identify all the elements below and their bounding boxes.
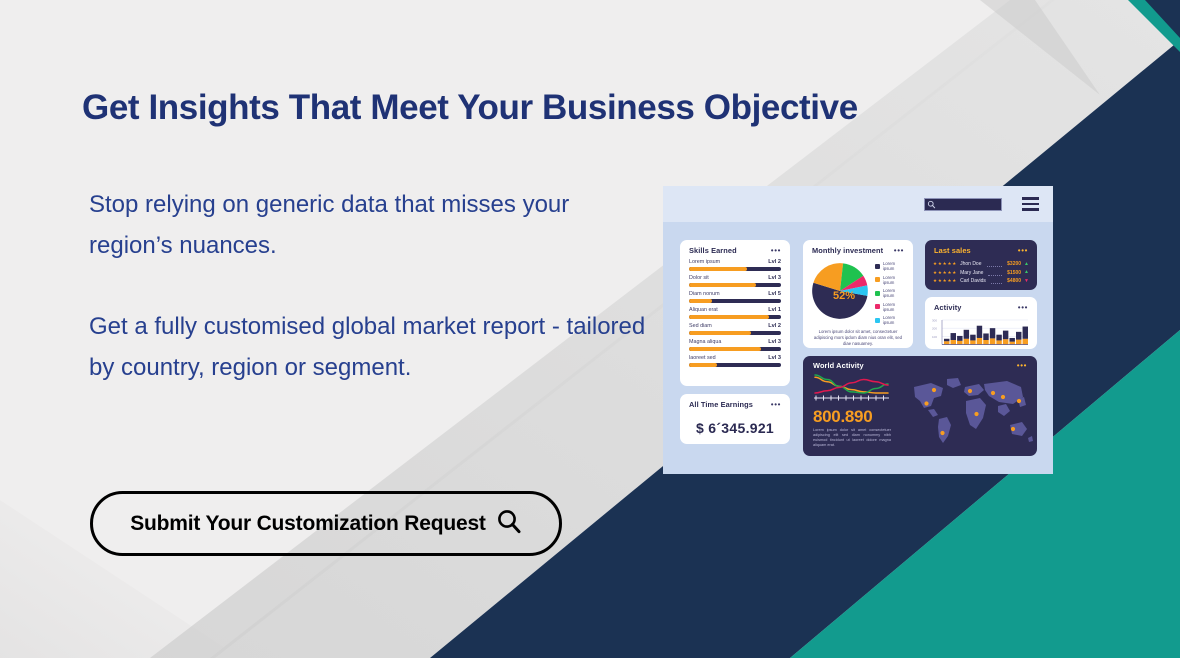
legend-swatch: [875, 291, 880, 296]
legend-label: Lorem ipsum: [883, 302, 907, 312]
rating-stars: ★★★★★: [933, 261, 957, 267]
skill-progress-bar: [689, 283, 781, 287]
sales-list: ★★★★★Jhon Doe$3200▲★★★★★Mary Jane$1500▲★…: [925, 259, 1037, 284]
card-menu-icon[interactable]: •••: [771, 402, 781, 407]
bar-segment: [977, 326, 982, 338]
card-menu-icon[interactable]: •••: [894, 248, 904, 253]
world-activity-card: World Activity ••• 800.890 Lorem ipsum d…: [803, 356, 1037, 456]
sale-amount: $4800: [1007, 278, 1021, 284]
skill-name: Diam nonum: [689, 291, 720, 297]
bar-segment: [990, 338, 995, 344]
skill-name: Lorem ipsum: [689, 259, 720, 265]
monthly-investment-card: Monthly investment ••• 52% Lorem ipsumLo…: [803, 240, 913, 348]
legend-label: Lorem ipsum: [883, 261, 907, 271]
skill-row: Diam nonumLvl 5: [689, 291, 781, 303]
bar-segment: [951, 333, 956, 340]
legend-swatch: [875, 318, 880, 323]
world-note: Lorem ipsum dolor sit amet consectetuer …: [813, 428, 891, 448]
card-title: All Time Earnings: [689, 400, 753, 409]
skill-name: laoreet sed: [689, 355, 716, 361]
customer-name: Jhon Doe: [960, 261, 981, 267]
map-marker[interactable]: [940, 431, 944, 435]
skill-level: Lvl 3: [768, 275, 781, 281]
map-landmass: [947, 378, 961, 388]
skill-progress-bar: [689, 267, 781, 271]
map-marker[interactable]: [1011, 427, 1015, 431]
skill-row: Lorem ipsumLvl 2: [689, 259, 781, 271]
bar-segment: [1003, 331, 1008, 340]
bar-segment: [996, 340, 1001, 344]
card-title: Skills Earned: [689, 246, 737, 255]
map-marker[interactable]: [1017, 399, 1021, 403]
map-landmass: [914, 383, 943, 408]
world-line-chart: [813, 373, 891, 406]
earnings-value: $ 6´345.921: [680, 420, 790, 436]
bar-segment: [983, 340, 988, 344]
skill-row: laoreet sedLvl 3: [689, 355, 781, 367]
legend-item: Lorem ipsum: [875, 261, 907, 271]
legend-label: Lorem ipsum: [883, 275, 907, 285]
bar-segment: [1023, 339, 1028, 345]
hamburger-menu-icon[interactable]: [1022, 197, 1039, 211]
card-menu-icon[interactable]: •••: [1018, 305, 1028, 310]
y-tick-label: 300: [932, 319, 937, 323]
card-menu-icon[interactable]: •••: [771, 248, 781, 253]
bar-segment: [970, 335, 975, 341]
card-title: Monthly investment: [812, 246, 883, 255]
pie-legend: Lorem ipsumLorem ipsumLorem ipsumLorem i…: [875, 261, 907, 325]
map-marker[interactable]: [1001, 395, 1005, 399]
activity-card: Activity ••• 100200300: [925, 297, 1037, 349]
map-marker[interactable]: [924, 401, 928, 405]
bar-segment: [944, 339, 949, 341]
card-menu-icon[interactable]: •••: [1017, 363, 1027, 368]
legend-swatch: [875, 304, 880, 309]
skill-progress-bar: [689, 315, 781, 319]
bar-segment: [1009, 342, 1014, 345]
bar-segment: [957, 341, 962, 345]
search-input[interactable]: [924, 198, 1002, 211]
card-title: World Activity: [813, 361, 864, 370]
bar-segment: [964, 339, 969, 345]
sale-row: ★★★★★Mary Jane$1500▲: [933, 270, 1029, 276]
rating-stars: ★★★★★: [933, 278, 957, 284]
dashboard-mockup: Skills Earned ••• Lorem ipsumLvl 2Dolor …: [663, 186, 1053, 474]
leader-dots: [991, 278, 1002, 284]
bar-segment: [1016, 340, 1021, 345]
card-menu-icon[interactable]: •••: [1018, 248, 1028, 253]
y-tick-label: 100: [932, 335, 937, 339]
legend-label: Lorem ipsum: [883, 288, 907, 298]
skill-name: Dolor sit: [689, 275, 709, 281]
bar-segment: [1016, 332, 1021, 340]
map-marker[interactable]: [968, 389, 972, 393]
legend-swatch: [875, 264, 880, 269]
map-landmass: [1028, 436, 1033, 442]
legend-item: Lorem ipsum: [875, 315, 907, 325]
all-time-earnings-card: All Time Earnings ••• $ 6´345.921: [680, 394, 790, 444]
search-icon: [496, 508, 522, 539]
skill-row: Magna aliquaLvl 3: [689, 339, 781, 351]
skill-level: Lvl 2: [768, 259, 781, 265]
map-landmass: [964, 384, 984, 396]
map-landmass: [938, 417, 951, 443]
pie-center-label: 52%: [833, 290, 855, 302]
bar-segment: [1023, 327, 1028, 339]
bar-segment: [951, 340, 956, 344]
skill-progress-bar: [689, 299, 781, 303]
bar-segment: [1003, 339, 1008, 344]
skill-progress-bar: [689, 347, 781, 351]
world-big-number: 800.890: [813, 407, 891, 426]
skill-progress-bar: [689, 331, 781, 335]
activity-bar-chart: 100200300: [925, 316, 1037, 353]
legend-item: Lorem ipsum: [875, 288, 907, 298]
trend-icon: ▲: [1024, 270, 1029, 275]
legend-item: Lorem ipsum: [875, 275, 907, 285]
map-landmass: [998, 404, 1010, 416]
legend-swatch: [875, 277, 880, 282]
world-map: [895, 373, 1035, 456]
promo-banner: Get Insights That Meet Your Business Obj…: [0, 0, 1180, 658]
map-marker[interactable]: [932, 388, 936, 392]
skill-name: Magna aliqua: [689, 339, 721, 345]
bar-segment: [957, 336, 962, 341]
bar-segment: [964, 330, 969, 339]
leader-dots: [988, 270, 1002, 276]
paragraph-2: Get a fully customised global market rep…: [89, 306, 649, 388]
bar-segment: [944, 341, 949, 344]
pie-chart: 52%: [811, 262, 869, 325]
sale-amount: $1500: [1007, 270, 1021, 276]
legend-label: Lorem ipsum: [883, 315, 907, 325]
skill-name: Aliquan erat: [689, 307, 718, 313]
trend-icon: ▼: [1024, 279, 1029, 284]
cta-label: Submit Your Customization Request: [130, 512, 485, 536]
bar-segment: [1009, 338, 1014, 342]
search-icon: [927, 200, 936, 209]
customer-name: Mary Jane: [960, 270, 983, 276]
skill-level: Lvl 2: [768, 323, 781, 329]
bar-segment: [990, 328, 995, 338]
skill-level: Lvl 1: [768, 307, 781, 313]
map-marker[interactable]: [991, 391, 995, 395]
skill-progress-bar: [689, 363, 781, 367]
sale-amount: $3200: [1007, 261, 1021, 267]
page-title: Get Insights That Meet Your Business Obj…: [82, 88, 858, 128]
sale-row: ★★★★★Jhon Doe$3200▲: [933, 261, 1029, 267]
skill-row: Sed diamLvl 2: [689, 323, 781, 335]
sale-row: ★★★★★Carl Davids$4800▼: [933, 278, 1029, 284]
customer-name: Carl Davids: [960, 278, 986, 284]
legend-item: Lorem ipsum: [875, 302, 907, 312]
pie-note: Lorem ipsum dolor sit amet, consectetuer…: [803, 325, 913, 347]
bar-segment: [996, 335, 1001, 341]
skill-level: Lvl 3: [768, 355, 781, 361]
map-marker[interactable]: [974, 412, 978, 416]
card-title: Activity: [934, 303, 962, 312]
bar-segment: [970, 340, 975, 344]
submit-customization-request-button[interactable]: Submit Your Customization Request: [90, 491, 562, 556]
skills-list: Lorem ipsumLvl 2Dolor sitLvl 3Diam nonum…: [680, 259, 790, 367]
paragraph-1: Stop relying on generic data that misses…: [89, 184, 649, 266]
skills-earned-card: Skills Earned ••• Lorem ipsumLvl 2Dolor …: [680, 240, 790, 386]
map-landmass: [928, 409, 938, 417]
last-sales-card: Last sales ••• ★★★★★Jhon Doe$3200▲★★★★★M…: [925, 240, 1037, 290]
dashboard-header: [663, 186, 1053, 222]
bar-segment: [983, 333, 988, 340]
leader-dots: [987, 261, 1003, 267]
skill-row: Dolor sitLvl 3: [689, 275, 781, 287]
bar-segment: [977, 338, 982, 345]
rating-stars: ★★★★★: [933, 270, 957, 276]
trend-icon: ▲: [1024, 262, 1029, 267]
skill-level: Lvl 3: [768, 339, 781, 345]
y-tick-label: 200: [932, 327, 937, 331]
skill-name: Sed diam: [689, 323, 712, 329]
skill-level: Lvl 5: [768, 291, 781, 297]
card-title: Last sales: [934, 246, 971, 255]
skill-row: Aliquan eratLvl 1: [689, 307, 781, 319]
